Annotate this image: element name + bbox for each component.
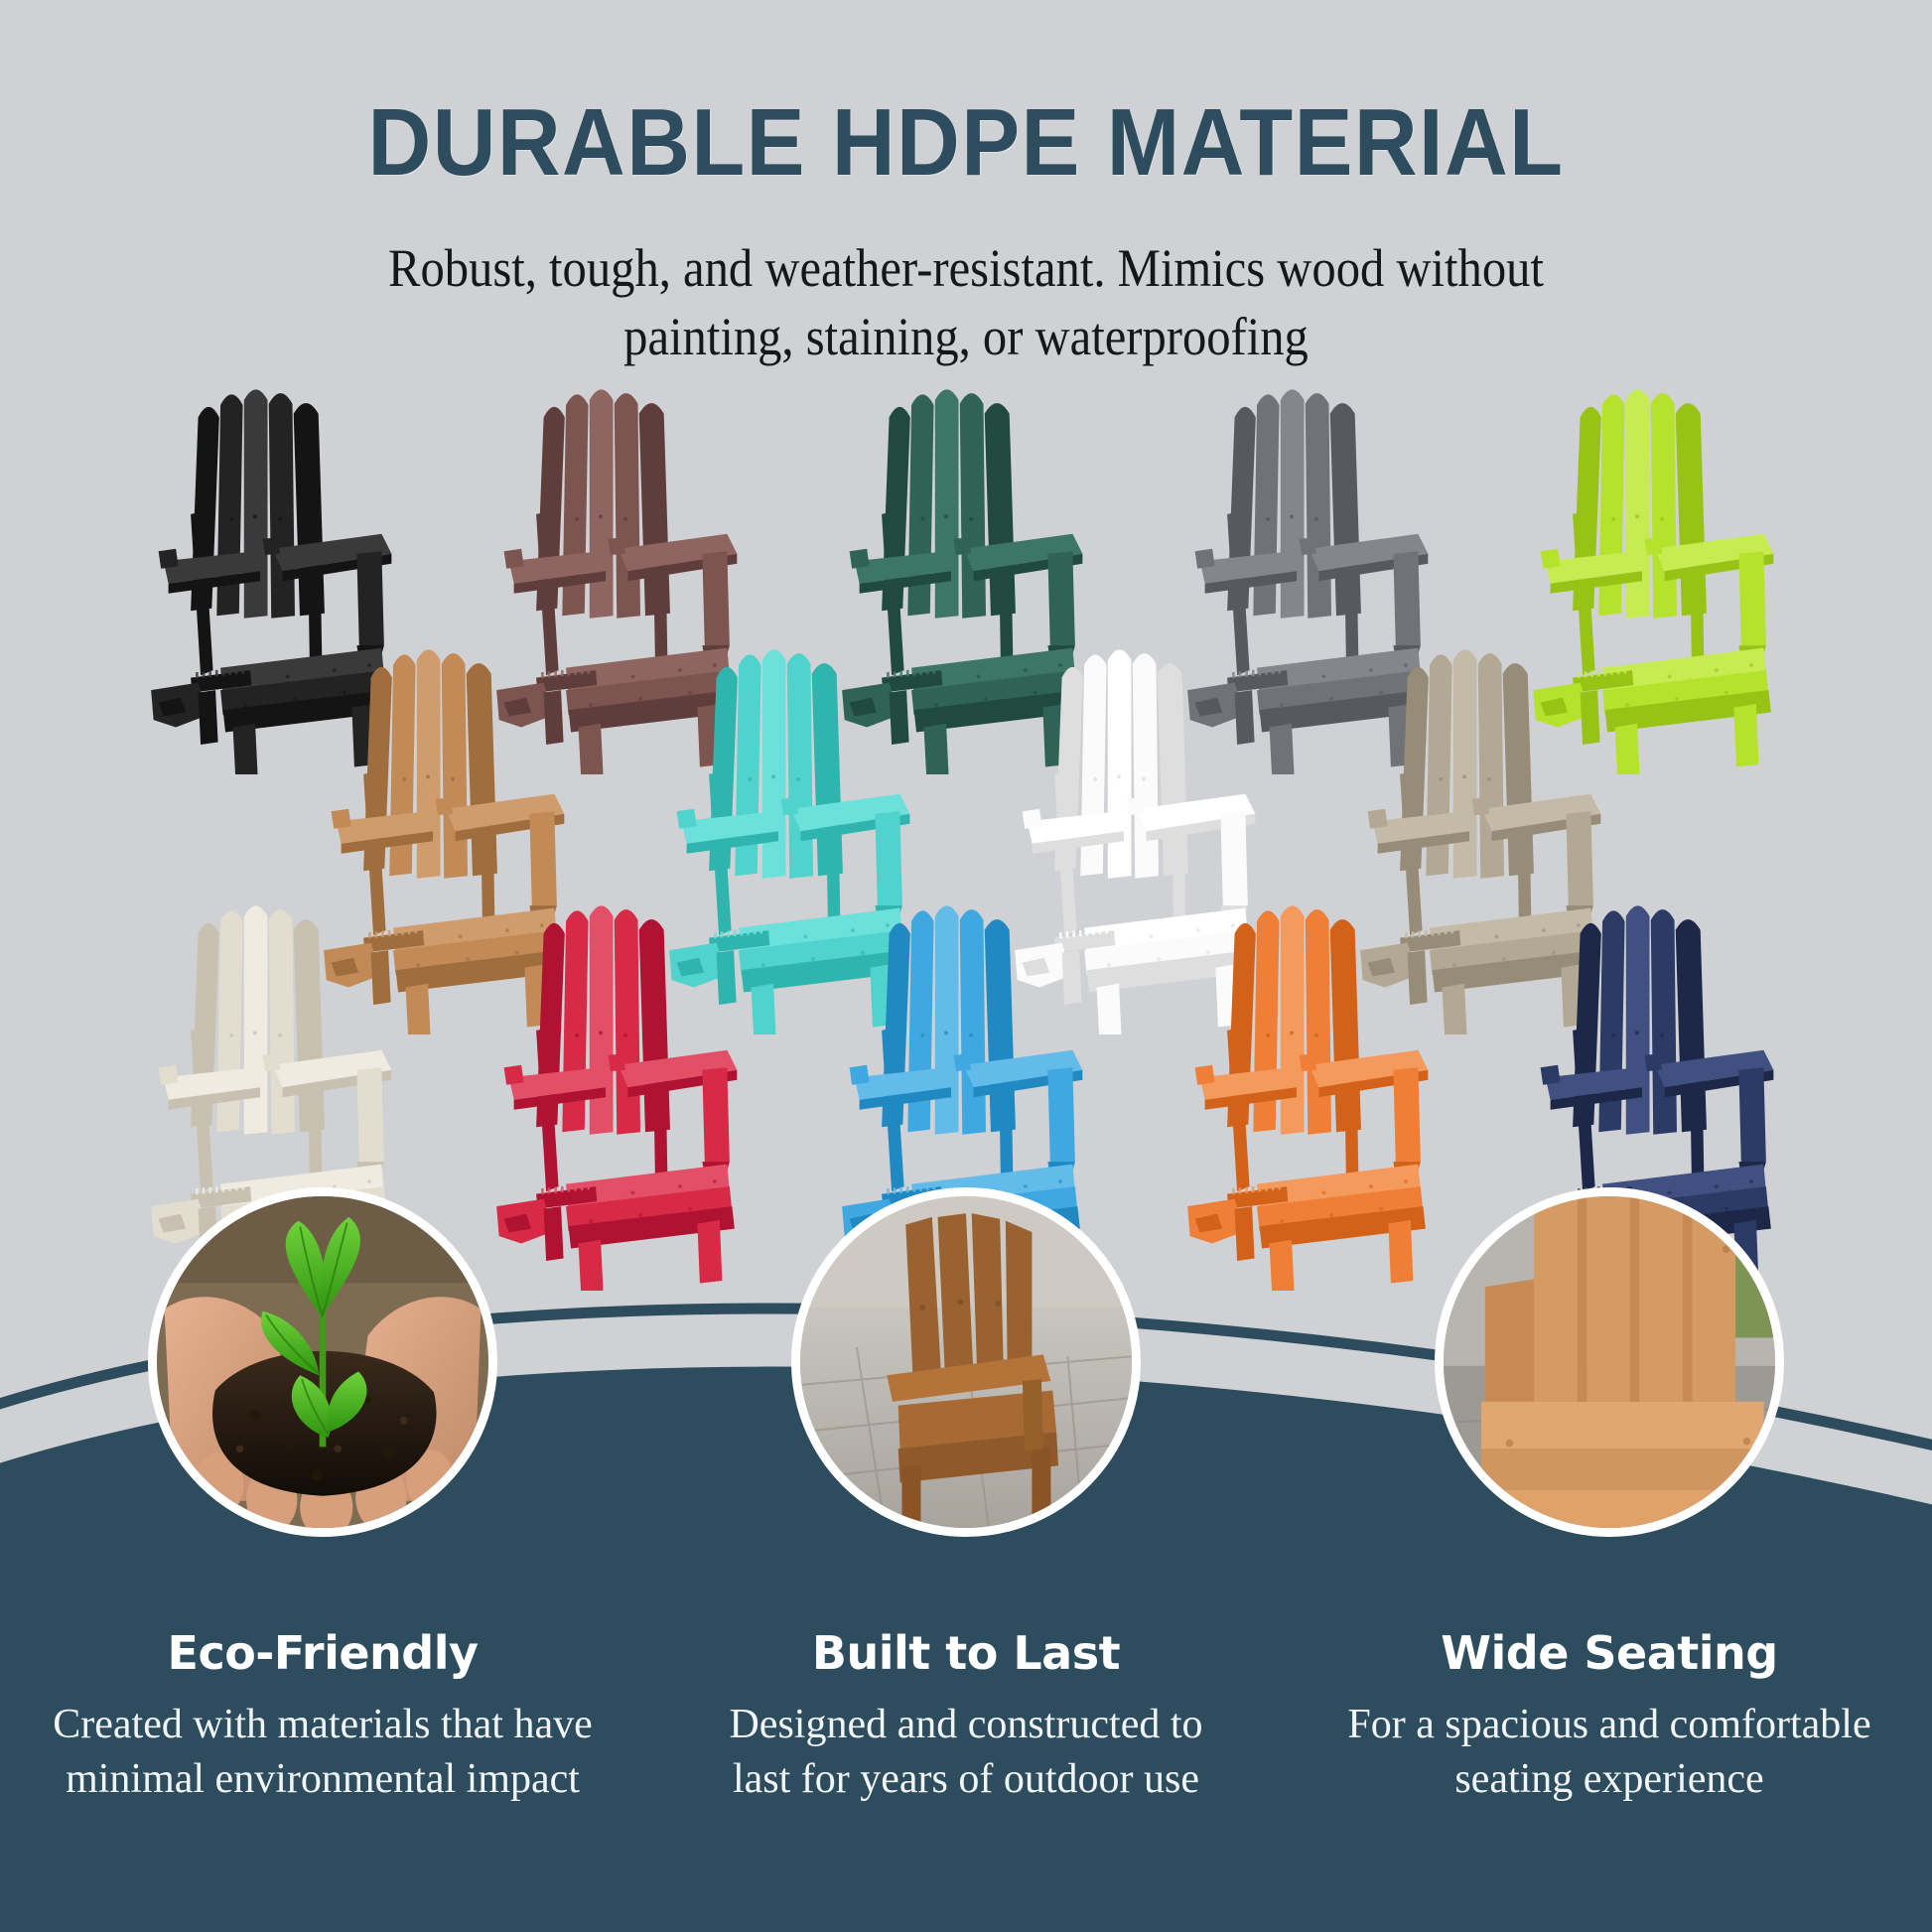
feature-desc-line-1: Created with materials that have <box>53 1702 592 1747</box>
feature-title: Wide Seating <box>1321 1626 1897 1680</box>
feature-photo-wide-seating <box>1435 1187 1784 1537</box>
subtitle-line-2: painting, staining, or waterproofing <box>96 303 1835 371</box>
feature-photo-built-to-last <box>791 1187 1141 1537</box>
feature-caption-wide-seating: Wide Seating For a spacious and comforta… <box>1321 1626 1897 1806</box>
feature-photo-eco-friendly <box>148 1187 497 1537</box>
adirondack-chair-orange <box>1163 882 1460 1291</box>
tan-chair-wide-seat-image <box>1444 1196 1775 1528</box>
feature-caption-eco-friendly: Eco-Friendly Created with materials that… <box>35 1626 611 1806</box>
feature-caption-built-to-last: Built to Last Designed and constructed t… <box>678 1626 1254 1806</box>
feature-title: Built to Last <box>678 1626 1254 1680</box>
seedling-in-hands-image <box>157 1196 488 1528</box>
feature-desc-line-2: seating experience <box>1454 1756 1763 1802</box>
feature-desc-line-1: For a spacious and comfortable <box>1347 1702 1870 1747</box>
chair-color-grid <box>0 365 1932 1229</box>
header: DURABLE HDPE MATERIAL Robust, tough, and… <box>0 0 1932 371</box>
feature-desc-line-2: last for years of outdoor use <box>733 1756 1199 1802</box>
chair-swatch-orange[interactable] <box>1163 882 1460 1296</box>
brown-chair-on-patio-image <box>800 1196 1132 1528</box>
chair-swatch-red[interactable] <box>472 882 769 1296</box>
feature-desc-line-1: Designed and constructed to <box>729 1702 1202 1747</box>
subtitle-line-1: Robust, tough, and weather-resistant. Mi… <box>96 234 1835 303</box>
page-subtitle: Robust, tough, and weather-resistant. Mi… <box>96 234 1835 371</box>
page-title: DURABLE HDPE MATERIAL <box>77 95 1855 191</box>
adirondack-chair-red <box>472 882 769 1291</box>
feature-title: Eco-Friendly <box>35 1626 611 1680</box>
feature-desc-line-2: minimal environmental impact <box>66 1756 580 1802</box>
